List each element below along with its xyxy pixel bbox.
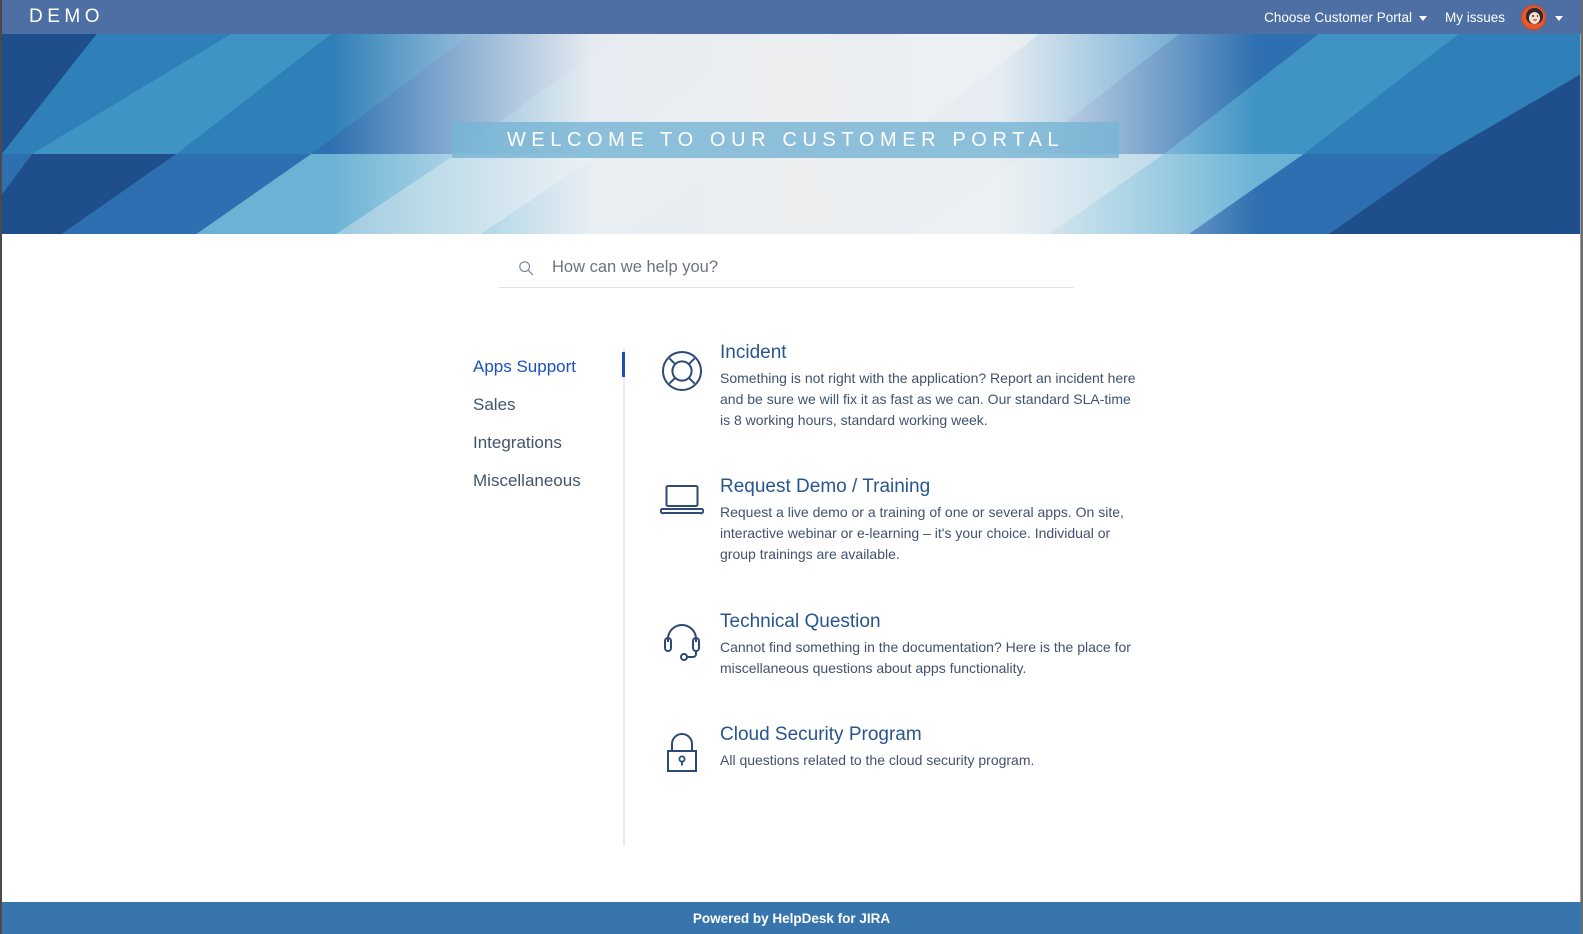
profile-chevron-down-icon bbox=[1555, 16, 1563, 21]
request-description: Request a live demo or a training of one… bbox=[720, 502, 1140, 564]
sidebar-active-indicator bbox=[622, 352, 625, 377]
my-issues-label: My issues bbox=[1445, 10, 1505, 25]
request-type-list: Incident Something is not right with the… bbox=[660, 340, 1140, 819]
avatar-eye-left bbox=[1532, 15, 1534, 17]
top-navigation-bar: DEMO Choose Customer Portal My issues bbox=[2, 0, 1581, 34]
profile-menu[interactable] bbox=[1514, 5, 1563, 30]
request-body: Incident Something is not right with the… bbox=[720, 340, 1140, 430]
avatar-eye-right bbox=[1537, 15, 1539, 17]
top-navigation-right: Choose Customer Portal My issues bbox=[1255, 5, 1563, 30]
request-type-request-demo-training[interactable]: Request Demo / Training Request a live d… bbox=[660, 474, 1140, 564]
window-right-edge bbox=[1580, 34, 1581, 934]
avatar-face bbox=[1529, 12, 1540, 24]
sidebar-item-miscellaneous[interactable]: Miscellaneous bbox=[473, 462, 623, 500]
request-description: All questions related to the cloud secur… bbox=[720, 750, 1140, 771]
laptop-icon bbox=[660, 483, 704, 517]
hero-banner: WELCOME TO OUR CUSTOMER PORTAL bbox=[2, 34, 1581, 234]
choose-customer-portal-label: Choose Customer Portal bbox=[1264, 10, 1412, 25]
brand-logo[interactable]: DEMO bbox=[29, 6, 104, 28]
request-group-sidebar: Apps Support Sales Integrations Miscella… bbox=[473, 348, 623, 500]
chevron-down-icon bbox=[1419, 16, 1427, 21]
request-type-technical-question[interactable]: Technical Question Cannot find something… bbox=[660, 609, 1140, 679]
request-description: Something is not right with the applicat… bbox=[720, 368, 1140, 430]
request-icon-wrap bbox=[660, 474, 704, 564]
search-bar[interactable] bbox=[499, 258, 1074, 288]
footer: Powered by HelpDesk for JIRA bbox=[2, 902, 1581, 934]
request-icon-wrap bbox=[660, 722, 704, 775]
request-body: Cloud Security Program All questions rel… bbox=[720, 722, 1140, 775]
avatar bbox=[1521, 5, 1546, 30]
request-icon-wrap bbox=[660, 340, 704, 430]
headset-icon bbox=[660, 618, 704, 662]
request-body: Request Demo / Training Request a live d… bbox=[720, 474, 1140, 564]
sidebar-divider bbox=[623, 348, 625, 846]
choose-customer-portal-menu[interactable]: Choose Customer Portal bbox=[1255, 10, 1436, 25]
browser-window: DEMO Choose Customer Portal My issues bbox=[0, 0, 1583, 934]
request-title: Technical Question bbox=[720, 609, 1140, 635]
request-icon-wrap bbox=[660, 609, 704, 679]
my-issues-link[interactable]: My issues bbox=[1436, 10, 1514, 25]
lock-icon bbox=[662, 731, 702, 775]
sidebar-item-apps-support[interactable]: Apps Support bbox=[473, 348, 623, 386]
request-body: Technical Question Cannot find something… bbox=[720, 609, 1140, 679]
search-input[interactable] bbox=[552, 258, 1074, 277]
hero-banner-band: WELCOME TO OUR CUSTOMER PORTAL bbox=[452, 122, 1119, 158]
request-title: Incident bbox=[720, 340, 1140, 366]
sidebar-item-integrations[interactable]: Integrations bbox=[473, 424, 623, 462]
footer-text: Powered by HelpDesk for JIRA bbox=[693, 911, 890, 926]
search-icon bbox=[517, 259, 535, 277]
request-type-incident[interactable]: Incident Something is not right with the… bbox=[660, 340, 1140, 430]
request-title: Request Demo / Training bbox=[720, 474, 1140, 500]
lifebuoy-icon bbox=[660, 349, 704, 393]
hero-banner-text: WELCOME TO OUR CUSTOMER PORTAL bbox=[507, 129, 1064, 152]
request-title: Cloud Security Program bbox=[720, 722, 1140, 748]
request-type-cloud-security-program[interactable]: Cloud Security Program All questions rel… bbox=[660, 722, 1140, 775]
sidebar-item-sales[interactable]: Sales bbox=[473, 386, 623, 424]
request-description: Cannot find something in the documentati… bbox=[720, 637, 1140, 679]
